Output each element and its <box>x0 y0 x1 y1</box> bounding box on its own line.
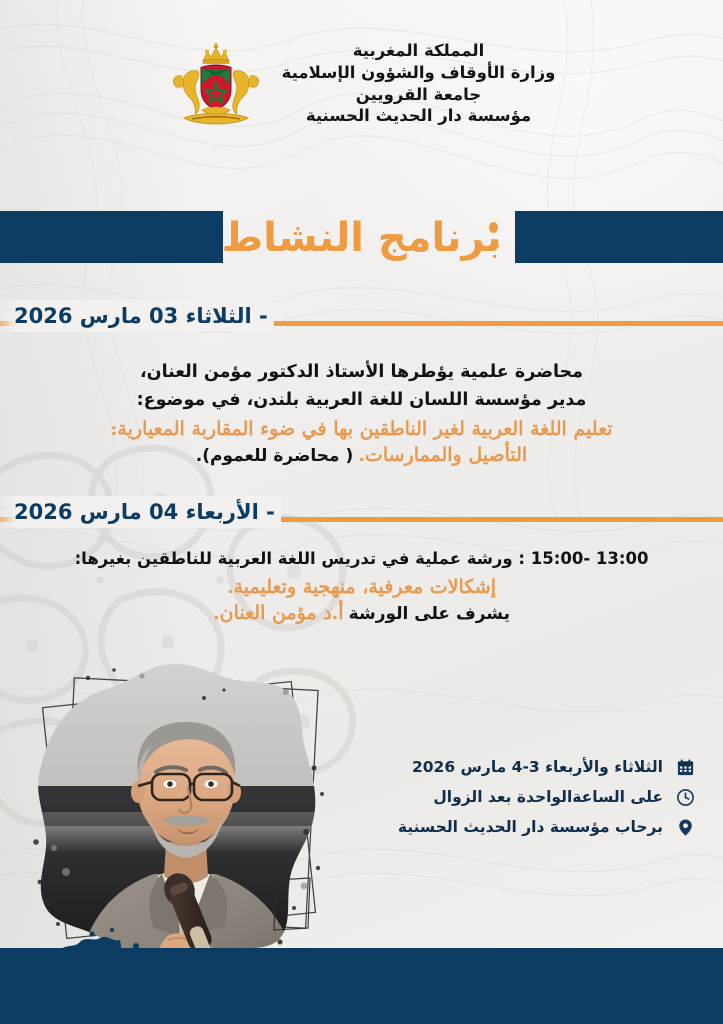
info-row-date: الثلاثاء والأربعاء 3-4 مارس 2026 <box>375 756 695 778</box>
section-2-line-3: يشرف على الورشة أ.د مؤمن العنان. <box>34 602 689 624</box>
header-line-4: مؤسسة دار الحديث الحسنية <box>282 105 556 127</box>
section-1-audience-note: ( محاضرة للعموم). <box>196 446 353 466</box>
section-2-date-row: - الأربعاء 04 مارس 2026 <box>0 492 723 532</box>
section-1-date-label: - الثلاثاء 03 مارس 2026 <box>0 304 268 328</box>
info-row-location: برحاب مؤسسة دار الحديث الحسنية <box>375 816 695 838</box>
event-info-block: الثلاثاء والأربعاء 3-4 مارس 2026 على الس… <box>375 756 695 838</box>
speaker-photo-graphic <box>18 636 348 986</box>
info-row-time: على الساعةالواحدة بعد الزوال <box>375 786 695 808</box>
section-2-date-label: - الأربعاء 04 مارس 2026 <box>0 500 275 524</box>
header-line-3: جامعة القرويين <box>282 84 556 106</box>
poster-root: المملكة المغربية وزارة الأوقاف والشؤون ا… <box>0 0 723 1024</box>
section-1-topic-tail: التأصيل والممارسات. <box>358 444 527 466</box>
info-location-text: برحاب مؤسسة دار الحديث الحسنية <box>398 818 663 836</box>
section-1-date-row: - الثلاثاء 03 مارس 2026 <box>0 296 723 336</box>
section-2-line-2: إشكالات معرفية، منهجية وتعليمية. <box>34 573 689 602</box>
title-dot-large <box>489 222 498 233</box>
section-1-body: محاضرة علمية يؤطرها الأستاذ الدكتور مؤمن… <box>0 358 723 466</box>
calendar-icon <box>675 756 695 778</box>
title-dot-small <box>494 243 499 248</box>
section-2-supervisor-name: أ.د مؤمن العنان. <box>213 602 344 624</box>
speaker-photo <box>18 636 348 986</box>
section-2-line-1: 13:00 -15:00 : ورشة عملية في تدريس اللغة… <box>34 546 689 573</box>
header-institution-text: المملكة المغربية وزارة الأوقاف والشؤون ا… <box>282 36 556 127</box>
info-date-text: الثلاثاء والأربعاء 3-4 مارس 2026 <box>412 758 663 776</box>
moroccan-coat-of-arms-icon <box>168 38 264 142</box>
info-time-text: على الساعةالواحدة بعد الزوال <box>433 788 663 806</box>
location-pin-icon <box>675 816 695 838</box>
section-1-line-3: تعليم اللغة العربية لغير الناطقين بها في… <box>34 415 689 444</box>
content: - الثلاثاء 03 مارس 2026 محاضرة علمية يؤط… <box>0 296 723 624</box>
header-line-2: وزارة الأوقاف والشؤون الإسلامية <box>282 62 556 84</box>
bottom-navy-bar <box>0 948 723 1024</box>
section-1-line-1: محاضرة علمية يؤطرها الأستاذ الدكتور مؤمن… <box>34 358 689 386</box>
section-1-line-2: مدير مؤسسة اللسان للغة العربية بلندن، في… <box>34 386 689 414</box>
clock-icon <box>675 786 695 808</box>
page-title: برنامج النشاط <box>0 206 723 270</box>
section-1-line-4: التأصيل والممارسات. ( محاضرة للعموم). <box>34 444 689 466</box>
section-2-body: 13:00 -15:00 : ورشة عملية في تدريس اللغة… <box>0 546 723 624</box>
section-2-supervisor-prefix: يشرف على الورشة <box>349 604 510 624</box>
header-line-1: المملكة المغربية <box>282 40 556 62</box>
title-band: برنامج النشاط <box>0 206 723 270</box>
header: المملكة المغربية وزارة الأوقاف والشؤون ا… <box>0 36 723 156</box>
